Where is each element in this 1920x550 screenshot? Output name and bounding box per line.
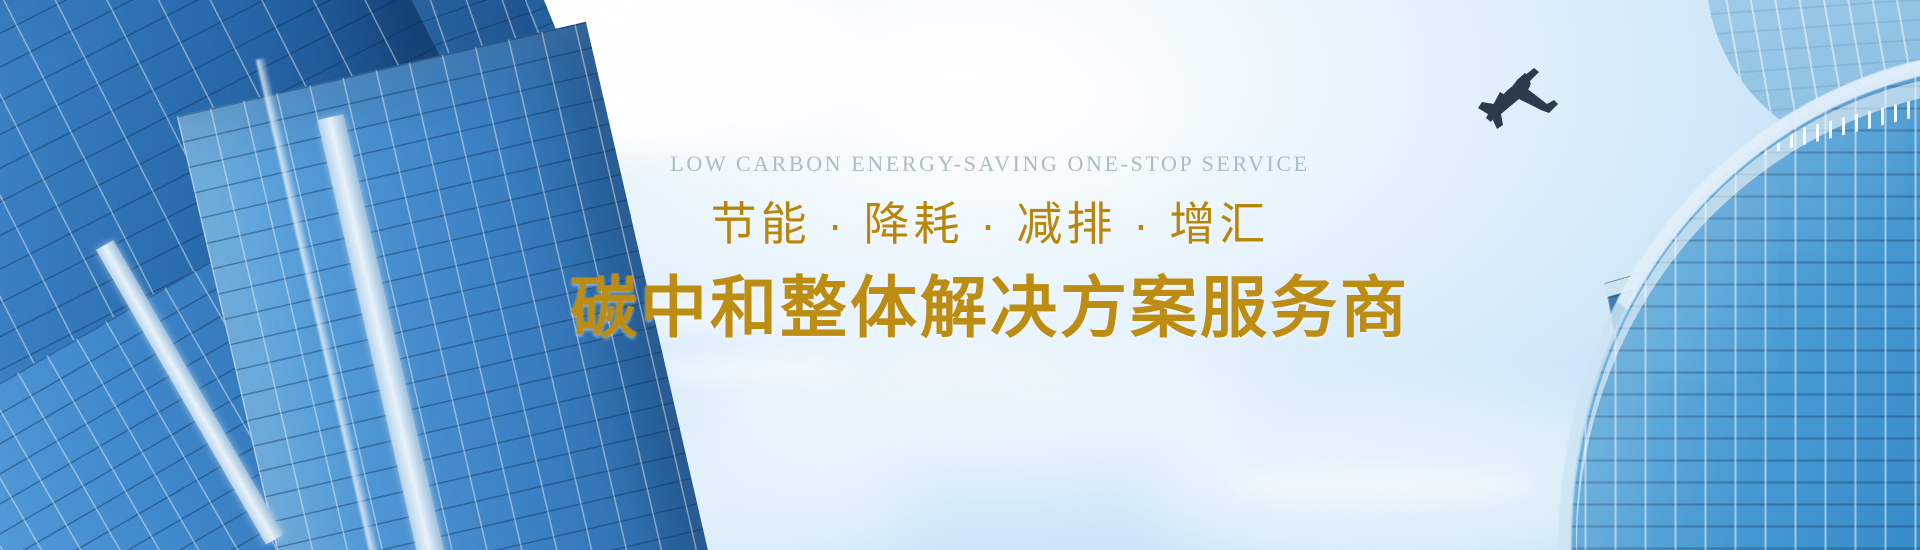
banner-headline: 碳中和整体解决方案服务商 (570, 268, 1410, 350)
banner-eyebrow: LOW CARBON ENERGY-SAVING ONE-STOP SERVIC… (670, 152, 1309, 176)
banner-copy: LOW CARBON ENERGY-SAVING ONE-STOP SERVIC… (0, 152, 1920, 349)
cloud-wisp (640, 360, 850, 380)
cloud-shape (700, 330, 1260, 480)
airplane-icon (1455, 52, 1573, 144)
hero-banner: LOW CARBON ENERGY-SAVING ONE-STOP SERVIC… (0, 0, 1920, 550)
cloud-wisp (1230, 470, 1530, 500)
banner-subtitle: 节能 · 降耗 · 减排 · 增汇 (711, 196, 1270, 254)
